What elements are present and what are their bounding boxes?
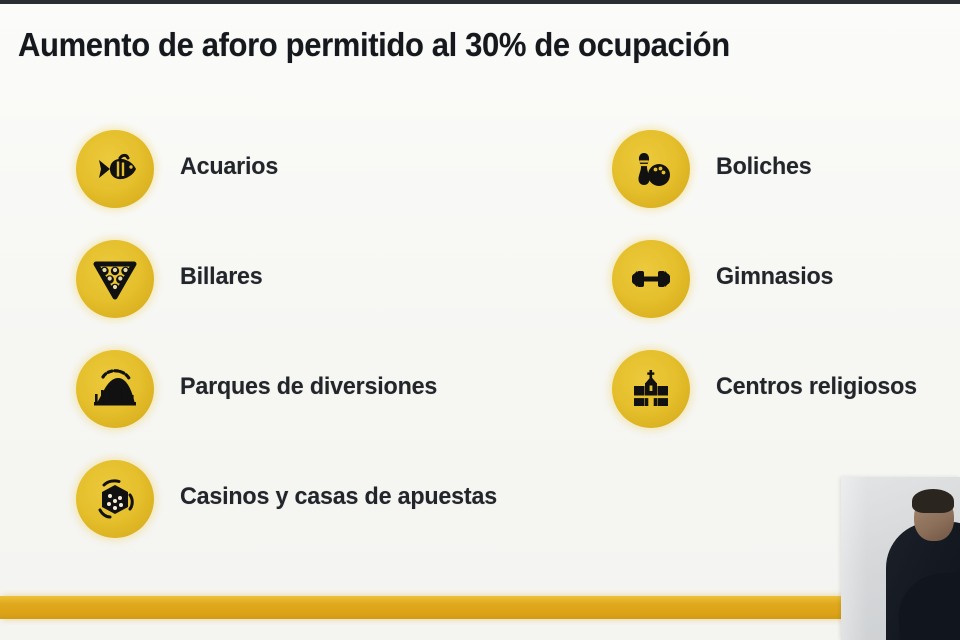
icon-badge-casinos (76, 460, 154, 538)
list-item-billares: Billares (76, 232, 596, 342)
list-item-boliches: Boliches (612, 122, 960, 232)
list-item-centros-religiosos: Centros religiosos (612, 342, 960, 452)
speaker-hair (912, 489, 954, 513)
billiards-rack-icon (90, 254, 140, 304)
list-item-acuarios: Acuarios (76, 122, 596, 232)
list-item-parques-de-diversiones: Parques de diversiones (76, 342, 596, 452)
dice-icon (90, 474, 140, 524)
roller-coaster-icon (90, 364, 140, 414)
list-item-label: Gimnasios (716, 263, 833, 291)
icon-badge-gimnasios (612, 240, 690, 318)
list-item-label: Parques de diversiones (180, 373, 437, 401)
list-item-label: Casinos y casas de apuestas (180, 483, 497, 511)
dumbbell-icon (626, 254, 676, 304)
list-item-label: Boliches (716, 153, 811, 181)
icon-badge-centros-religiosos (612, 350, 690, 428)
bowling-icon (626, 144, 676, 194)
page-title: Aumento de aforo permitido al 30% de ocu… (18, 26, 883, 64)
icon-badge-parques (76, 350, 154, 428)
icon-badge-acuarios (76, 130, 154, 208)
list-item-label: Billares (180, 263, 263, 291)
list-item-label: Acuarios (180, 153, 278, 181)
icon-badge-billares (76, 240, 154, 318)
left-column: Acuarios (76, 122, 596, 562)
list-item-label: Centros religiosos (716, 373, 917, 401)
fish-icon (90, 144, 140, 194)
presentation-screenshot: Aumento de aforo permitido al 30% de ocu… (0, 0, 960, 640)
speaker-video-inset[interactable] (841, 477, 960, 640)
list-item-casinos: Casinos y casas de apuestas (76, 452, 596, 562)
icon-badge-boliches (612, 130, 690, 208)
list-item-gimnasios: Gimnasios (612, 232, 960, 342)
slide-surface: Aumento de aforo permitido al 30% de ocu… (0, 4, 960, 640)
right-column: Boliches (612, 122, 960, 452)
church-icon (626, 364, 676, 414)
bottom-accent-bar (0, 596, 960, 619)
